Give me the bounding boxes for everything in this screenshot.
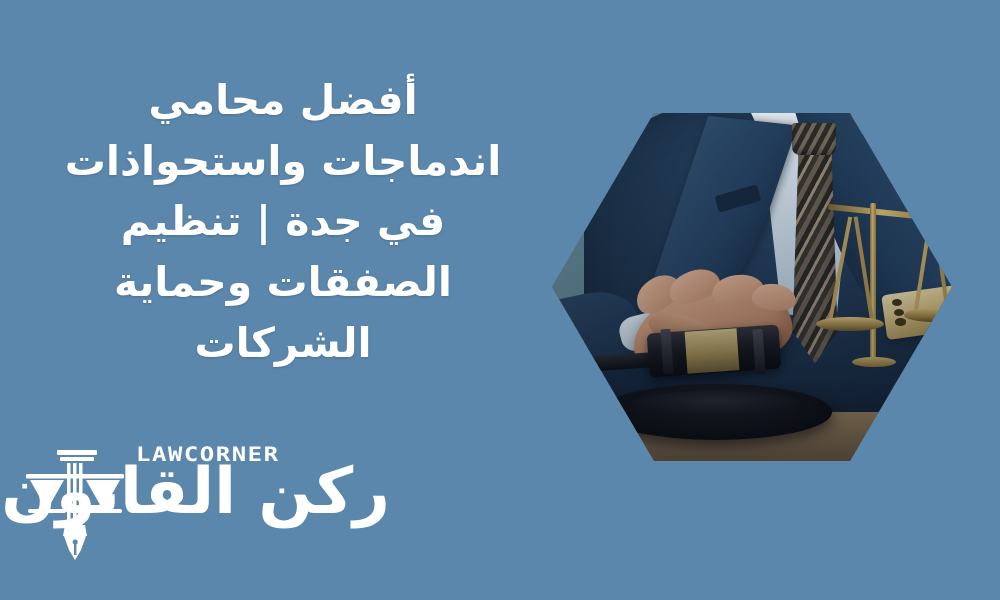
brand-logo[interactable]: LAWCORNER ركن القانون: [24, 440, 384, 570]
headline-line-5: الشركات: [18, 313, 548, 374]
scales-pan-left: [816, 317, 884, 332]
headline-line-2: اندماجات واستحواذات: [18, 131, 548, 192]
lawyer-photo: [552, 113, 952, 461]
phone-camera-lens: [895, 318, 905, 325]
banner-canvas: أفضل محامي اندماجات واستحواذات في جدة | …: [0, 0, 1000, 600]
scales-post: [870, 203, 876, 363]
headline-line-3: في جدة | تنظيم: [18, 191, 548, 252]
headline-line-4: الصفقات وحماية: [18, 252, 548, 313]
phone-camera-lens: [894, 309, 904, 316]
gavel-brass-band: [685, 328, 740, 373]
scales-base: [852, 357, 896, 367]
logo-arabic-wordmark: ركن القانون: [120, 460, 390, 524]
headline-line-1: أفضل محامي: [18, 70, 548, 131]
necktie-knot: [792, 123, 836, 154]
page-title: أفضل محامي اندماجات واستحواذات في جدة | …: [18, 70, 548, 373]
gavel-sound-block-top: [632, 391, 800, 415]
scales-pan-right: [904, 308, 952, 322]
hero-image-hexagon: [552, 113, 952, 461]
